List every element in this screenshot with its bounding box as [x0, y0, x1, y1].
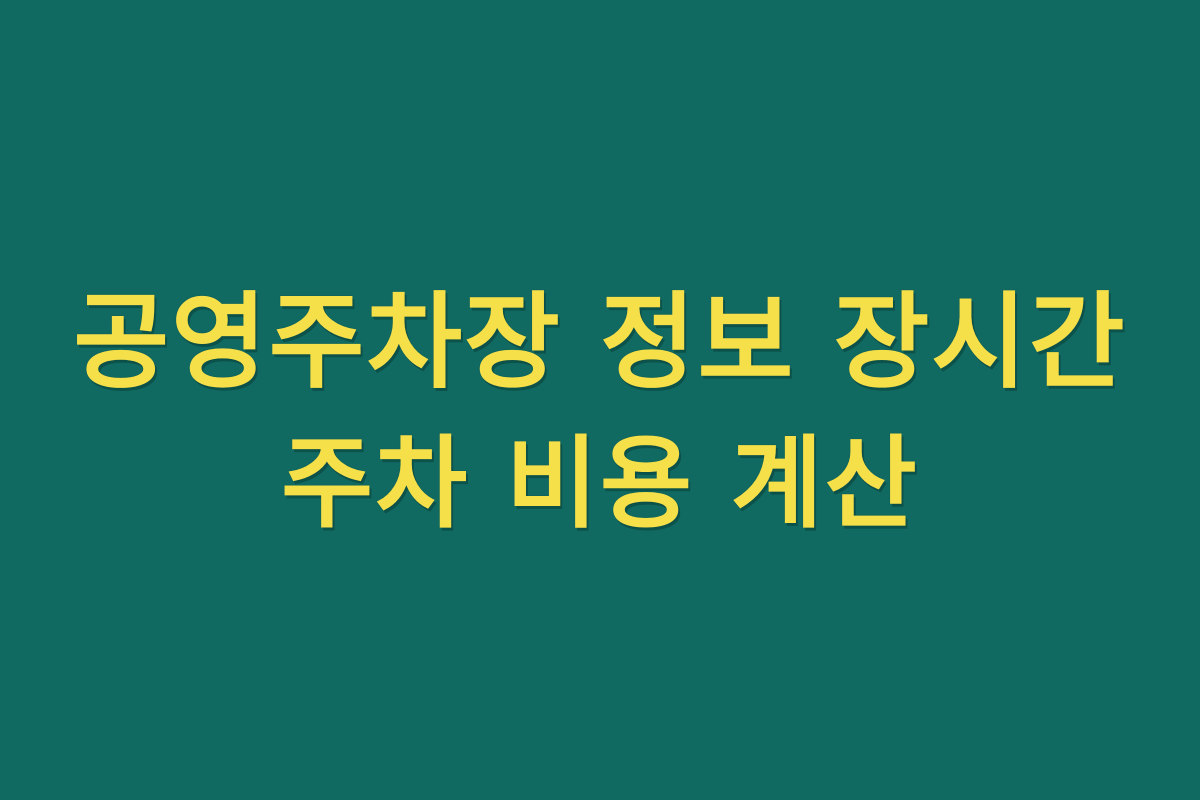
page-title-line-2: 주차 비용 계산: [70, 415, 1130, 553]
title-card-canvas: 공영주차장 정보 장시간 주차 비용 계산: [0, 0, 1200, 800]
page-title: 공영주차장 정보 장시간 주차 비용 계산: [70, 271, 1130, 553]
page-title-line-1: 공영주차장 정보 장시간: [70, 271, 1130, 415]
